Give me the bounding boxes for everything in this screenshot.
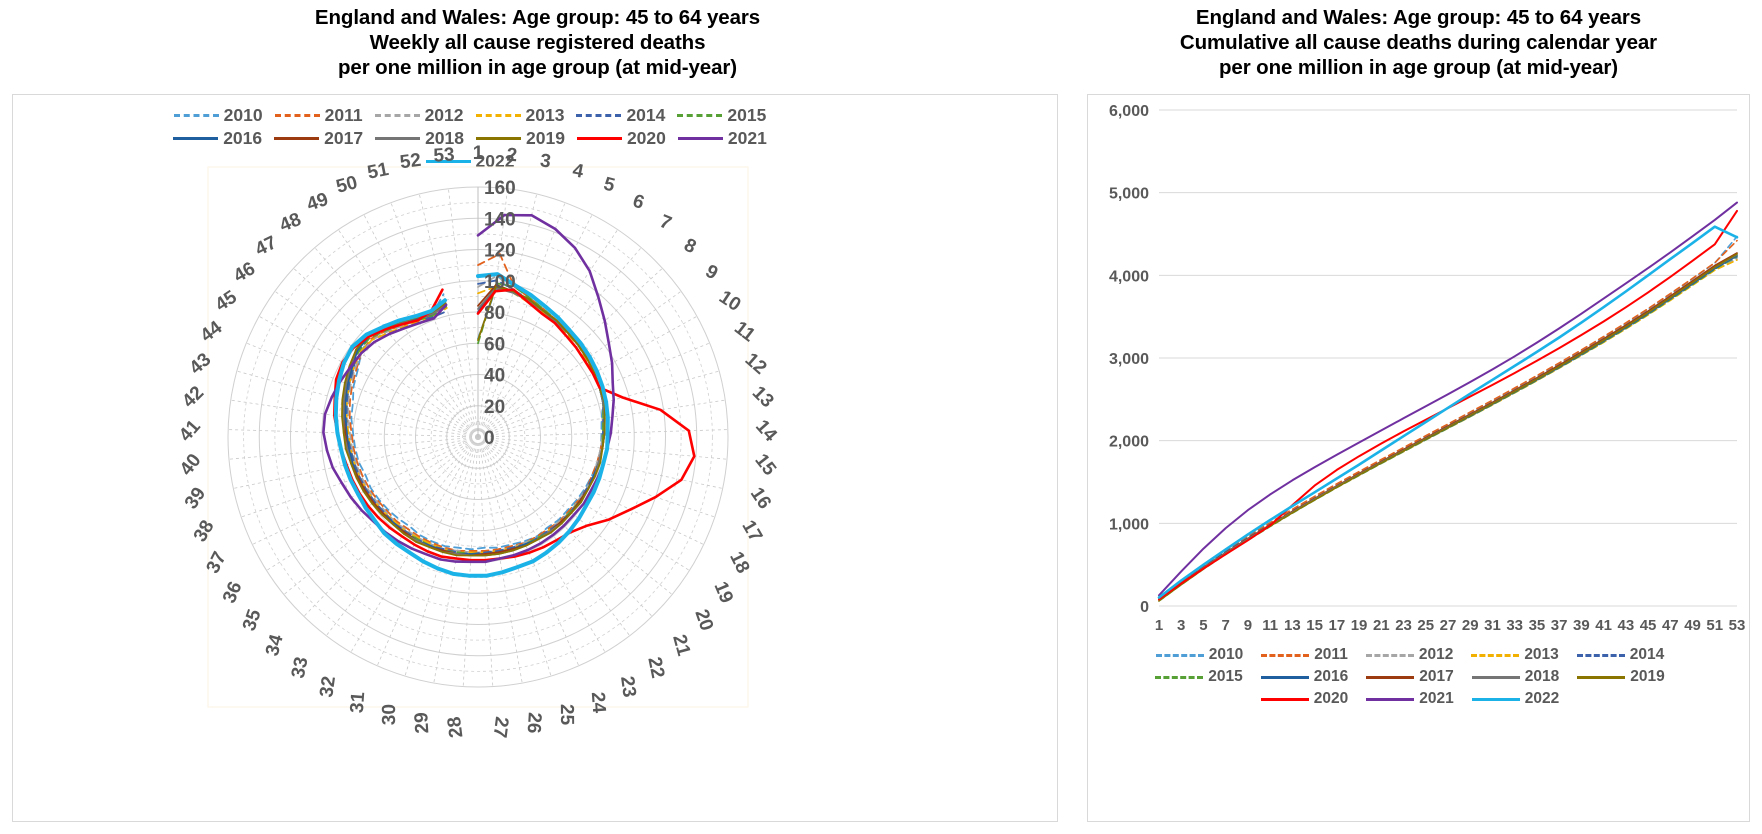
cumulative-x-tick: 51 <box>1706 617 1723 634</box>
legend-key-2018 <box>1472 676 1520 679</box>
legend-label-2016: 2016 <box>1314 668 1348 686</box>
cumulative-x-tick: 9 <box>1244 617 1252 634</box>
polar-week-label: 2 <box>506 145 518 167</box>
polar-week-label: 13 <box>748 382 778 412</box>
left-chart-title: England and Wales: Age group: 45 to 64 y… <box>0 5 1075 80</box>
cumulative-y-tick: 2,000 <box>1109 434 1149 451</box>
polar-week-label: 26 <box>523 712 545 734</box>
legend-label-2013: 2013 <box>1524 646 1558 664</box>
cumulative-series-2019 <box>1159 254 1737 601</box>
legend-label-2015: 2015 <box>1208 668 1242 686</box>
legend-item-2017[interactable]: 2017 <box>1366 668 1453 686</box>
legend-key-2021 <box>1366 698 1414 701</box>
legend-label-2010: 2010 <box>224 105 263 126</box>
legend-item-2012[interactable]: 2012 <box>1366 646 1453 664</box>
right-title-line-3: per one million in age group (at mid-yea… <box>1075 55 1762 80</box>
cumulative-x-tick: 25 <box>1417 617 1434 634</box>
legend-item-2019[interactable]: 2019 <box>476 128 565 149</box>
right-title-line-2: Cumulative all cause deaths during calen… <box>1075 30 1762 55</box>
cumulative-y-tick: 0 <box>1140 599 1149 616</box>
legend-label-2012: 2012 <box>425 105 464 126</box>
cumulative-y-tick: 1,000 <box>1109 516 1149 533</box>
legend-item-2012[interactable]: 2012 <box>375 105 464 126</box>
legend-label-2012: 2012 <box>1419 646 1453 664</box>
legend-item-2015[interactable]: 2015 <box>1155 668 1242 686</box>
legend-key-2020 <box>577 137 622 140</box>
polar-week-label: 53 <box>433 144 455 166</box>
cumulative-x-tick: 27 <box>1440 617 1457 634</box>
cumulative-x-tick: 1 <box>1155 617 1163 634</box>
legend-label-2014: 2014 <box>626 105 665 126</box>
cumulative-x-tick: 15 <box>1306 617 1323 634</box>
legend-item-2019[interactable]: 2019 <box>1577 668 1664 686</box>
legend-key-2012 <box>375 114 420 117</box>
legend-key-2016 <box>173 137 218 140</box>
legend-key-2017 <box>1366 676 1414 679</box>
legend-key-2015 <box>677 114 722 117</box>
legend-key-2020 <box>1261 698 1309 701</box>
polar-week-label: 27 <box>489 715 512 739</box>
polar-radial-tick: 60 <box>484 334 505 355</box>
cumulative-series-2020 <box>1159 211 1737 600</box>
legend-item-2010[interactable]: 2010 <box>1156 646 1243 664</box>
polar-radial-tick: 40 <box>484 366 505 387</box>
legend-item-2020[interactable]: 2020 <box>1261 690 1348 708</box>
polar-week-label: 41 <box>175 416 205 446</box>
polar-radial-tick: 140 <box>484 209 516 230</box>
cumulative-line-chart: 01,0002,0003,0004,0005,0006,000135791113… <box>1087 94 1750 654</box>
cumulative-y-tick: 3,000 <box>1109 351 1149 368</box>
right-title-line-1: England and Wales: Age group: 45 to 64 y… <box>1075 5 1762 30</box>
legend-item-2016[interactable]: 2016 <box>1261 668 1348 686</box>
polar-week-label: 39 <box>181 484 210 513</box>
cumulative-x-tick: 49 <box>1684 617 1701 634</box>
polar-radial-tick: 80 <box>484 303 505 324</box>
right-chart-legend: 2010201120122013201420152016201720182019… <box>1110 644 1710 710</box>
legend-item-2010[interactable]: 2010 <box>174 105 263 126</box>
legend-item-2011[interactable]: 2011 <box>1261 646 1348 664</box>
left-title-line-1: England and Wales: Age group: 45 to 64 y… <box>0 5 1075 30</box>
legend-label-2020: 2020 <box>1314 690 1348 708</box>
legend-item-2021[interactable]: 2021 <box>678 128 767 149</box>
legend-key-2022 <box>1472 698 1520 701</box>
legend-label-2017: 2017 <box>324 128 363 149</box>
legend-item-2013[interactable]: 2013 <box>1471 646 1558 664</box>
legend-item-2021[interactable]: 2021 <box>1366 690 1453 708</box>
cumulative-x-tick: 37 <box>1551 617 1568 634</box>
cumulative-x-tick: 41 <box>1595 617 1612 634</box>
polar-week-label: 14 <box>751 416 781 446</box>
polar-radial-tick: 120 <box>484 241 516 262</box>
legend-label-2010: 2010 <box>1209 646 1243 664</box>
polar-week-label: 30 <box>379 704 400 725</box>
polar-week-label: 22 <box>643 655 668 680</box>
legend-item-2011[interactable]: 2011 <box>275 105 363 126</box>
polar-week-label: 23 <box>616 675 640 699</box>
legend-item-2016[interactable]: 2016 <box>173 128 262 149</box>
cumulative-x-tick: 11 <box>1262 617 1278 634</box>
legend-item-2015[interactable]: 2015 <box>677 105 766 126</box>
legend-key-2019 <box>476 137 521 140</box>
legend-item-2014[interactable]: 2014 <box>1577 646 1664 664</box>
cumulative-y-tick: 4,000 <box>1109 268 1149 285</box>
legend-key-2021 <box>678 137 723 140</box>
cumulative-x-tick: 17 <box>1329 617 1346 634</box>
polar-radial-tick: 100 <box>484 272 516 293</box>
legend-label-2014: 2014 <box>1630 646 1664 664</box>
legend-label-2020: 2020 <box>627 128 666 149</box>
polar-week-label: 16 <box>746 484 775 513</box>
left-title-line-2: Weekly all cause registered deaths <box>0 30 1075 55</box>
legend-label-2011: 2011 <box>1314 646 1348 664</box>
legend-label-2015: 2015 <box>727 105 766 126</box>
cumulative-x-tick: 19 <box>1351 617 1368 634</box>
polar-radar-chart: 0204060801001201401601234567891011121314… <box>148 152 908 712</box>
cumulative-series-2011 <box>1159 241 1737 597</box>
legend-item-2020[interactable]: 2020 <box>577 128 666 149</box>
polar-svg: 0204060801001201401601234567891011121314… <box>148 152 908 712</box>
cumulative-x-tick: 31 <box>1484 617 1501 634</box>
legend-key-2018 <box>375 137 420 140</box>
legend-key-2011 <box>1261 654 1309 657</box>
polar-week-label: 24 <box>587 691 609 714</box>
polar-radial-tick: 160 <box>484 178 516 199</box>
polar-week-label: 1 <box>473 143 484 164</box>
cumulative-x-tick: 29 <box>1462 617 1479 634</box>
legend-key-2013 <box>1471 654 1519 657</box>
polar-week-label: 31 <box>347 691 369 714</box>
legend-key-2016 <box>1261 676 1309 679</box>
cumulative-x-tick: 3 <box>1177 617 1185 634</box>
cumulative-x-tick: 45 <box>1640 617 1657 634</box>
cumulative-x-tick: 13 <box>1284 617 1301 634</box>
legend-item-2013[interactable]: 2013 <box>476 105 565 126</box>
legend-label-2013: 2013 <box>526 105 565 126</box>
legend-label-2011: 2011 <box>325 105 363 126</box>
polar-week-label: 15 <box>750 450 780 480</box>
cumulative-x-tick: 43 <box>1618 617 1635 634</box>
polar-week-label: 25 <box>556 704 577 726</box>
dashboard-page: England and Wales: Age group: 45 to 64 y… <box>0 0 1762 834</box>
legend-label-2017: 2017 <box>1419 668 1453 686</box>
legend-label-2018: 2018 <box>1525 668 1559 686</box>
legend-key-2014 <box>576 114 621 117</box>
legend-item-2022[interactable]: 2022 <box>1472 690 1559 708</box>
legend-item-2014[interactable]: 2014 <box>576 105 665 126</box>
legend-label-2021: 2021 <box>728 128 767 149</box>
left-title-line-3: per one million in age group (at mid-yea… <box>0 55 1075 80</box>
cumulative-y-tick: 6,000 <box>1109 103 1149 120</box>
legend-key-2015 <box>1155 676 1203 679</box>
legend-key-2014 <box>1577 654 1625 657</box>
polar-week-label: 29 <box>411 712 433 734</box>
legend-label-2022: 2022 <box>1525 690 1559 708</box>
cumulative-x-tick: 53 <box>1729 617 1746 634</box>
legend-label-2019: 2019 <box>1630 668 1664 686</box>
cumulative-x-tick: 35 <box>1529 617 1546 634</box>
cumulative-x-tick: 21 <box>1373 617 1390 634</box>
legend-key-2013 <box>476 114 521 117</box>
cumulative-svg: 01,0002,0003,0004,0005,0006,000135791113… <box>1087 94 1750 654</box>
left-chart-panel: England and Wales: Age group: 45 to 64 y… <box>0 0 1075 834</box>
legend-key-2010 <box>1156 654 1204 657</box>
cumulative-y-tick: 5,000 <box>1109 186 1149 203</box>
cumulative-x-tick: 5 <box>1199 617 1207 634</box>
legend-key-2010 <box>174 114 219 117</box>
polar-week-label: 33 <box>288 655 313 680</box>
legend-label-2019: 2019 <box>526 128 565 149</box>
cumulative-x-tick: 7 <box>1222 617 1230 634</box>
polar-week-label: 28 <box>444 715 467 739</box>
right-chart-title: England and Wales: Age group: 45 to 64 y… <box>1075 5 1762 80</box>
legend-label-2016: 2016 <box>223 128 262 149</box>
polar-week-label: 40 <box>176 450 206 480</box>
polar-week-label: 51 <box>366 159 391 184</box>
right-chart-panel: England and Wales: Age group: 45 to 64 y… <box>1075 0 1762 834</box>
cumulative-x-tick: 47 <box>1662 617 1679 634</box>
polar-radial-tick: 0 <box>484 428 495 449</box>
cumulative-x-tick: 33 <box>1506 617 1523 634</box>
legend-key-2019 <box>1577 676 1625 679</box>
legend-key-2017 <box>274 137 319 140</box>
polar-radial-tick: 20 <box>484 397 505 418</box>
cumulative-x-tick: 23 <box>1395 617 1412 634</box>
cumulative-x-tick: 39 <box>1573 617 1590 634</box>
polar-week-label: 42 <box>178 382 208 412</box>
polar-week-label: 52 <box>399 150 423 174</box>
legend-item-2018[interactable]: 2018 <box>1472 668 1559 686</box>
legend-item-2017[interactable]: 2017 <box>274 128 363 149</box>
polar-week-label: 32 <box>316 675 340 699</box>
legend-label-2021: 2021 <box>1419 690 1453 708</box>
legend-key-2012 <box>1366 654 1414 657</box>
legend-key-2011 <box>275 114 320 117</box>
